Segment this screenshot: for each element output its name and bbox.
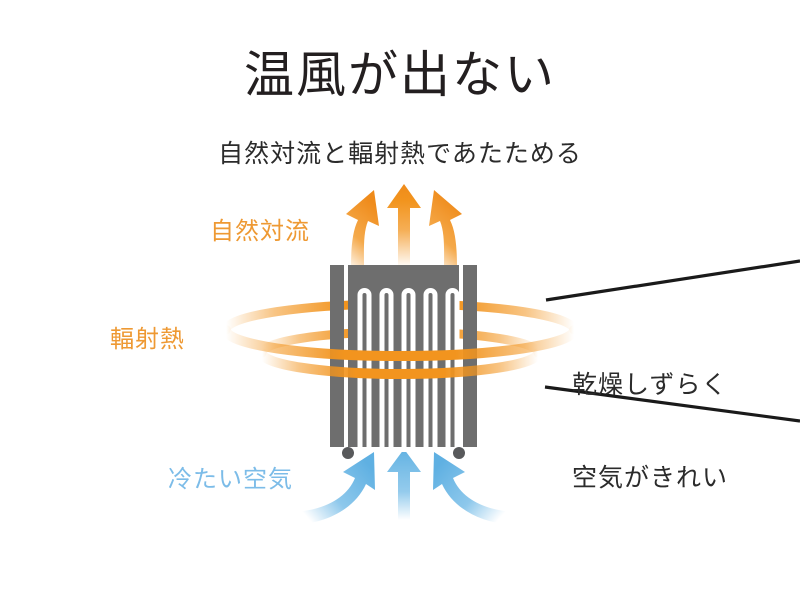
heater-foot-left [342, 447, 354, 459]
warm-air-arrow-center [387, 184, 421, 268]
callout-text: 乾燥しずらく 空気がきれい [572, 306, 728, 525]
page-subtitle: 自然対流と輻射熱であたためる [0, 138, 800, 169]
label-natural-convection: 自然対流 [210, 216, 310, 246]
callout-text-line-1: 乾燥しずらく [572, 369, 728, 400]
heater-foot-right [453, 447, 465, 459]
label-radiant-heat: 輻射熱 [110, 324, 185, 354]
warm-air-arrows [346, 184, 462, 268]
cold-air-arrow-right [433, 452, 520, 525]
cold-air-arrows [288, 449, 520, 525]
callout-line-top [546, 261, 800, 300]
cold-air-arrow-center [387, 449, 421, 520]
page-title: 温風が出ない [0, 44, 800, 107]
warm-air-arrow-left [346, 190, 379, 268]
label-cold-air: 冷たい空気 [168, 464, 293, 494]
callout-text-line-2: 空気がきれい [572, 462, 728, 493]
warm-air-arrow-right [429, 190, 462, 268]
panel-heater [330, 265, 477, 459]
cold-air-arrow-left [288, 452, 375, 525]
